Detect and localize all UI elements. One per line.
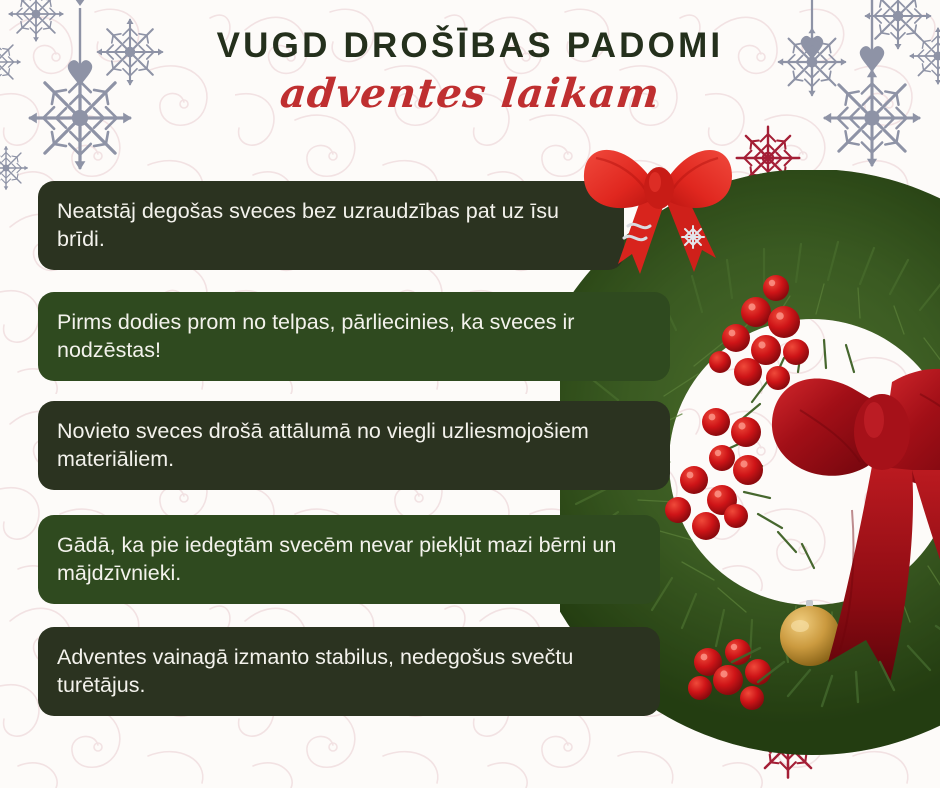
tip-text-5: Adventes vainagā izmanto stabilus, nedeg…	[57, 644, 640, 699]
tip-text-4: Gādā, ka pie iedegtām svecēm nevar piekļ…	[57, 532, 640, 587]
tip-box-4: Gādā, ka pie iedegtām svecēm nevar piekļ…	[38, 515, 660, 604]
poster-header: VUGD DROŠĪBAS PADOMI adventes laikam	[0, 0, 940, 116]
tip-box-1: Neatstāj degošas sveces bez uzraudzības …	[38, 181, 624, 270]
page-subtitle: adventes laikam	[0, 72, 940, 116]
tip-box-3: Novieto sveces drošā attālumā no viegli …	[38, 401, 670, 490]
tip-box-2: Pirms dodies prom no telpas, pārliecinie…	[38, 292, 670, 381]
tip-box-5: Adventes vainagā izmanto stabilus, nedeg…	[38, 627, 660, 716]
tip-text-2: Pirms dodies prom no telpas, pārliecinie…	[57, 309, 650, 364]
tip-text-3: Novieto sveces drošā attālumā no viegli …	[57, 418, 650, 473]
poster-canvas: VUGD DROŠĪBAS PADOMI adventes laikam	[0, 0, 940, 788]
safety-tips-list: Neatstāj degošas sveces bez uzraudzības …	[38, 181, 670, 716]
tip-text-1: Neatstāj degošas sveces bez uzraudzības …	[57, 198, 604, 253]
page-title: VUGD DROŠĪBAS PADOMI	[0, 26, 940, 66]
